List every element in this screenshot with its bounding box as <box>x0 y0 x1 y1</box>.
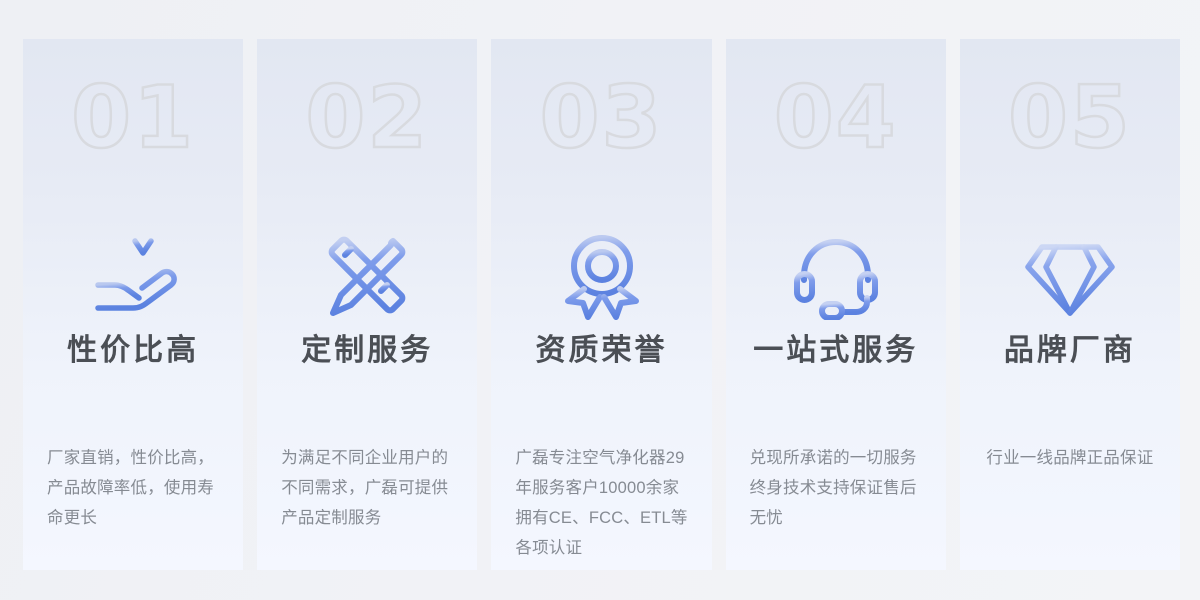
advantage-card[interactable]: 02 <box>257 39 477 570</box>
card-number-badge: 04 <box>726 75 946 161</box>
card-title: 品牌厂商 <box>960 331 1180 372</box>
advantages-section: 01 <box>0 0 1200 600</box>
card-description: 行业一线品牌正品保证 <box>970 443 1170 473</box>
card-number-badge: 05 <box>960 75 1180 161</box>
card-description: 广磊专注空气净化器29年服务客户10000余家拥有CE、FCC、ETL等各项认证 <box>515 443 691 563</box>
card-number-badge: 01 <box>23 75 243 161</box>
card-description: 兑现所承诺的一切服务终身技术支持保证售后无忧 <box>750 443 926 533</box>
advantage-card[interactable]: 04 <box>726 39 946 570</box>
hand-holding-yuan-icon <box>23 227 243 327</box>
pencil-ruler-cross-icon <box>257 227 477 327</box>
headset-support-icon <box>726 227 946 327</box>
card-title: 性价比高 <box>23 331 243 372</box>
card-description: 厂家直销，性价比高，产品故障率低，使用寿命更长 <box>47 443 223 533</box>
advantage-card[interactable]: 05 <box>960 39 1180 570</box>
advantage-card[interactable]: 01 <box>23 39 243 570</box>
award-medal-ribbon-icon <box>491 227 711 327</box>
card-title: 定制服务 <box>257 331 477 372</box>
card-title: 一站式服务 <box>726 331 946 372</box>
advantage-card-list: 01 <box>23 39 1180 570</box>
card-number-badge: 02 <box>257 75 477 161</box>
card-title: 资质荣誉 <box>491 331 711 372</box>
card-number-badge: 03 <box>491 75 711 161</box>
diamond-gem-icon <box>960 227 1180 327</box>
card-description: 为满足不同企业用户的不同需求，广磊可提供产品定制服务 <box>281 443 457 533</box>
advantage-card[interactable]: 03 <box>491 39 711 570</box>
